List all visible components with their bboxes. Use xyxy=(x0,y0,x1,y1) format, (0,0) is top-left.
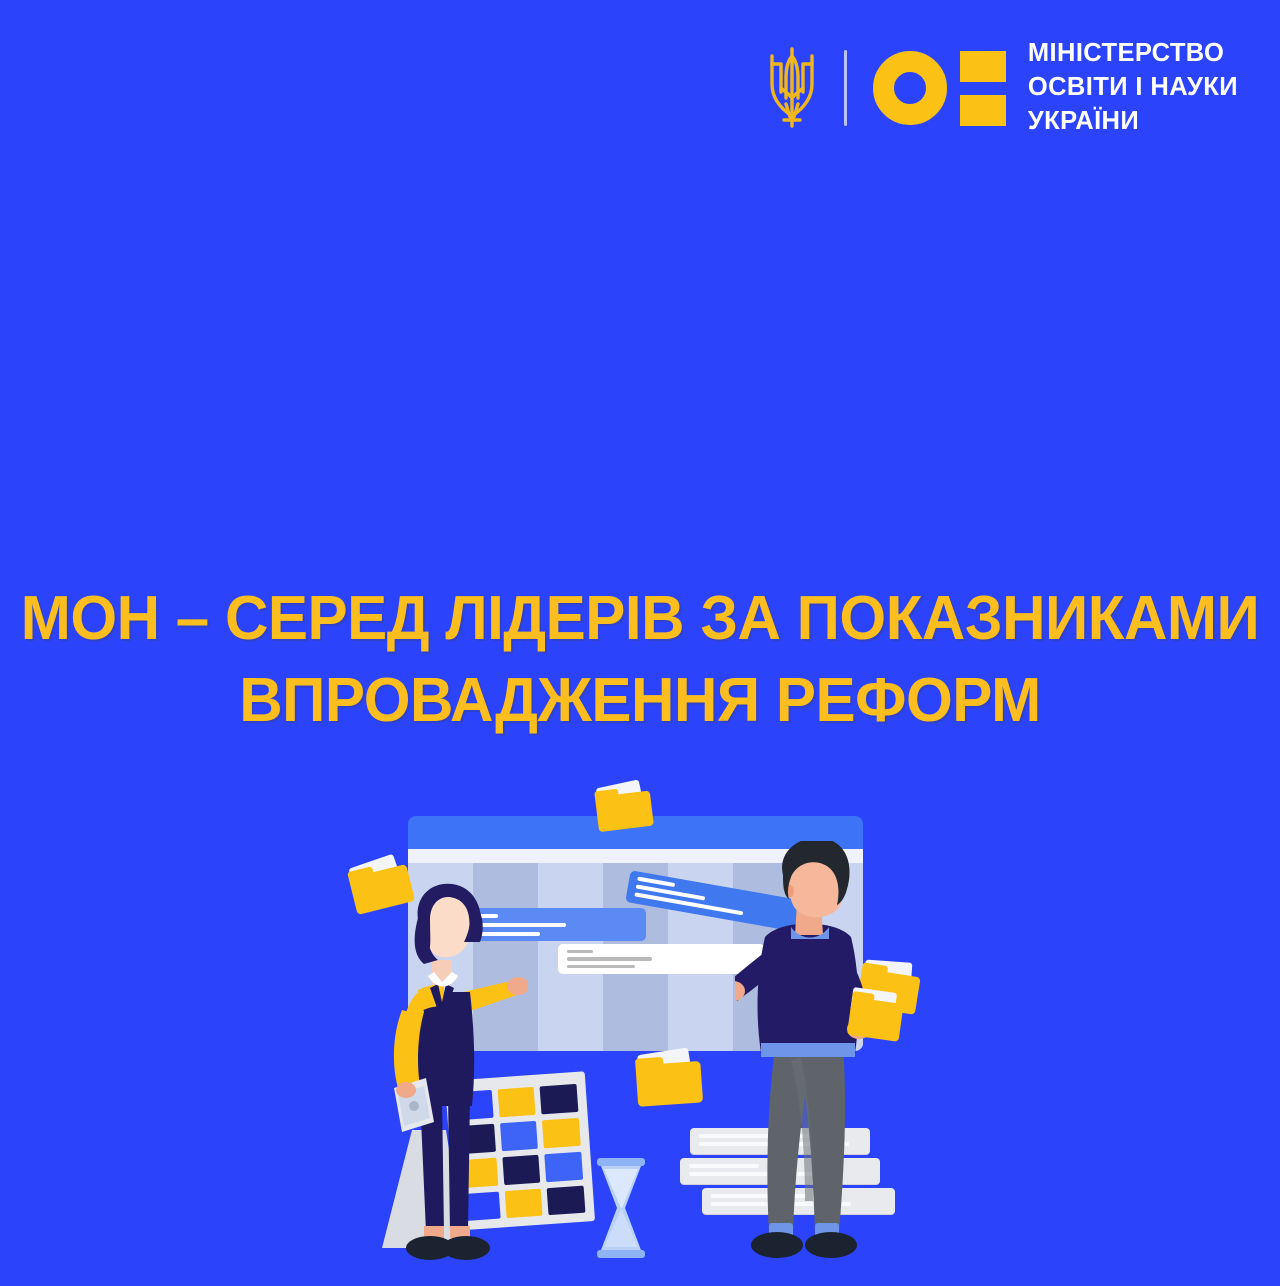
ministry-line-3: УКРАЇНИ xyxy=(1028,105,1238,139)
grid-tile xyxy=(542,1118,581,1148)
logo-divider xyxy=(844,50,847,126)
logo-colon-icon xyxy=(960,51,1006,126)
grid-tile xyxy=(545,1151,584,1181)
white-info-card xyxy=(558,944,765,974)
headline-line-1: МОН – СЕРЕД ЛІДЕРІВ ЗА ПОКАЗНИКАМИ xyxy=(19,578,1261,660)
folder-middle-icon xyxy=(635,1053,703,1107)
illustration xyxy=(340,786,940,1286)
person-woman xyxy=(368,880,528,1286)
grid-tile xyxy=(540,1084,579,1114)
headline-line-2: ВПРОВАДЖЕННЯ РЕФОРМ xyxy=(19,660,1261,742)
person-man xyxy=(735,841,925,1286)
ministry-line-1: МІНІСТЕРСТВО xyxy=(1028,37,1238,71)
hourglass-icon xyxy=(595,1158,647,1258)
headline: МОН – СЕРЕД ЛІДЕРІВ ЗА ПОКАЗНИКАМИ ВПРОВ… xyxy=(19,578,1261,743)
logo-o-icon xyxy=(873,51,947,125)
ministry-name: МІНІСТЕРСТВО ОСВІТИ І НАУКИ УКРАЇНИ xyxy=(1028,37,1238,139)
ministry-line-2: ОСВІТИ І НАУКИ xyxy=(1028,71,1238,105)
grid-tile xyxy=(547,1185,586,1215)
ministry-logo-bar: МІНІСТЕРСТВО ОСВІТИ І НАУКИ УКРАЇНИ xyxy=(762,40,1238,136)
mon-logo-mark xyxy=(873,51,1006,126)
folder-top-icon xyxy=(594,784,654,832)
ukrainian-trident-icon xyxy=(762,42,822,134)
